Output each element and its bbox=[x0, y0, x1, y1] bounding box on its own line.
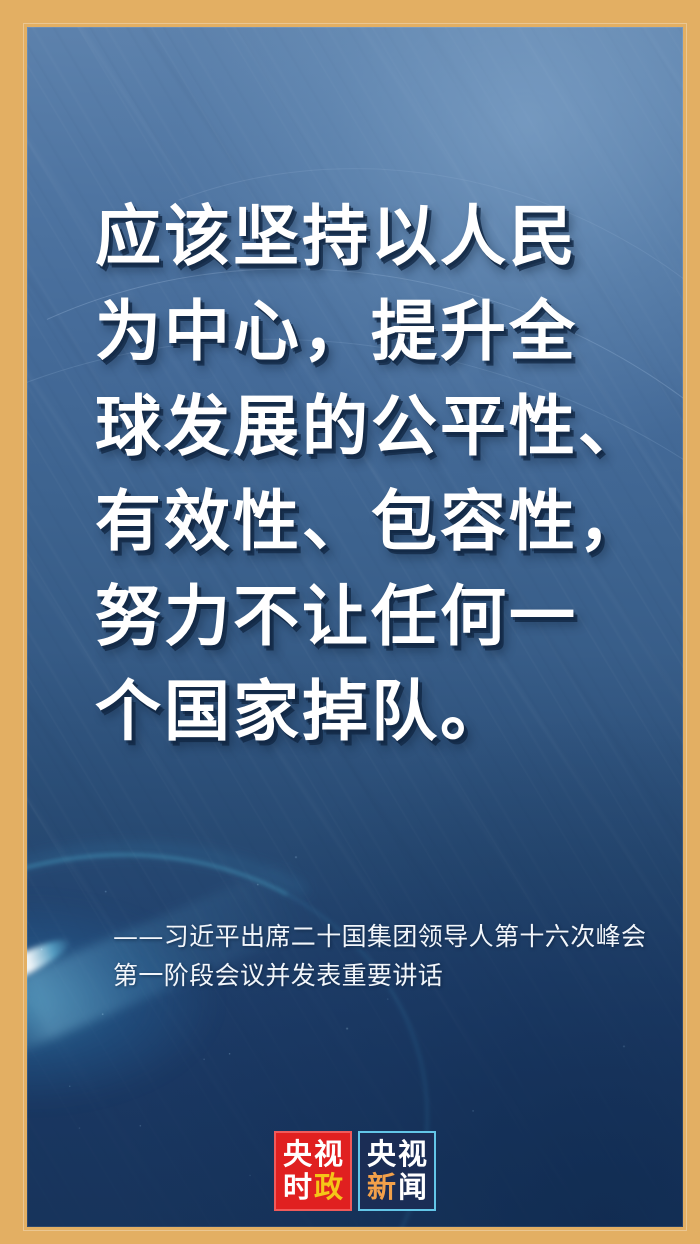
logo-char: 时 bbox=[283, 1173, 312, 1202]
logo-char: 视 bbox=[398, 1140, 427, 1169]
poster-card: 应该坚持以人民 为中心，提升全 球发展的公平性、 有效性、包容性， 努力不让任何… bbox=[0, 0, 700, 1244]
attribution-source: ——习近平出席二十国集团领导人第十六次峰会 第一阶段会议并发表重要讲话 bbox=[113, 917, 658, 995]
logo-char: 央 bbox=[283, 1140, 312, 1169]
headline-line-4: 有效性、包容性， bbox=[95, 474, 655, 569]
logo-row-top: 央 视 bbox=[283, 1140, 343, 1169]
headline-line-1: 应该坚持以人民 bbox=[95, 189, 655, 284]
logo-char: 视 bbox=[314, 1140, 343, 1169]
headline-line-3: 球发展的公平性、 bbox=[95, 379, 655, 474]
headline-line-2: 为中心，提升全 bbox=[95, 284, 655, 379]
poster-inner-frame: 应该坚持以人民 为中心，提升全 球发展的公平性、 有效性、包容性， 努力不让任何… bbox=[27, 27, 683, 1227]
logo-cctv-current-politics[interactable]: 央 视 时 政 bbox=[274, 1131, 352, 1211]
logo-row-bottom: 时 政 bbox=[283, 1173, 343, 1202]
attribution-line-1: ——习近平出席二十国集团领导人第十六次峰会 bbox=[113, 917, 658, 956]
logo-row-bottom: 新 闻 bbox=[367, 1173, 427, 1202]
logo-row: 央 视 时 政 央 视 新 闻 bbox=[27, 1131, 683, 1211]
logo-char: 闻 bbox=[398, 1173, 427, 1202]
logo-cctv-news[interactable]: 央 视 新 闻 bbox=[358, 1131, 436, 1211]
poster-content: 应该坚持以人民 为中心，提升全 球发展的公平性、 有效性、包容性， 努力不让任何… bbox=[27, 27, 683, 1227]
headline-line-5: 努力不让任何一 bbox=[95, 569, 655, 664]
logo-char: 央 bbox=[367, 1140, 396, 1169]
logo-char: 新 bbox=[367, 1173, 396, 1202]
logo-row-top: 央 视 bbox=[367, 1140, 427, 1169]
headline-line-6: 个国家掉队。 bbox=[95, 664, 655, 759]
logo-char: 政 bbox=[314, 1173, 343, 1202]
headline-quote: 应该坚持以人民 为中心，提升全 球发展的公平性、 有效性、包容性， 努力不让任何… bbox=[95, 189, 655, 759]
attribution-line-2: 第一阶段会议并发表重要讲话 bbox=[113, 956, 658, 995]
